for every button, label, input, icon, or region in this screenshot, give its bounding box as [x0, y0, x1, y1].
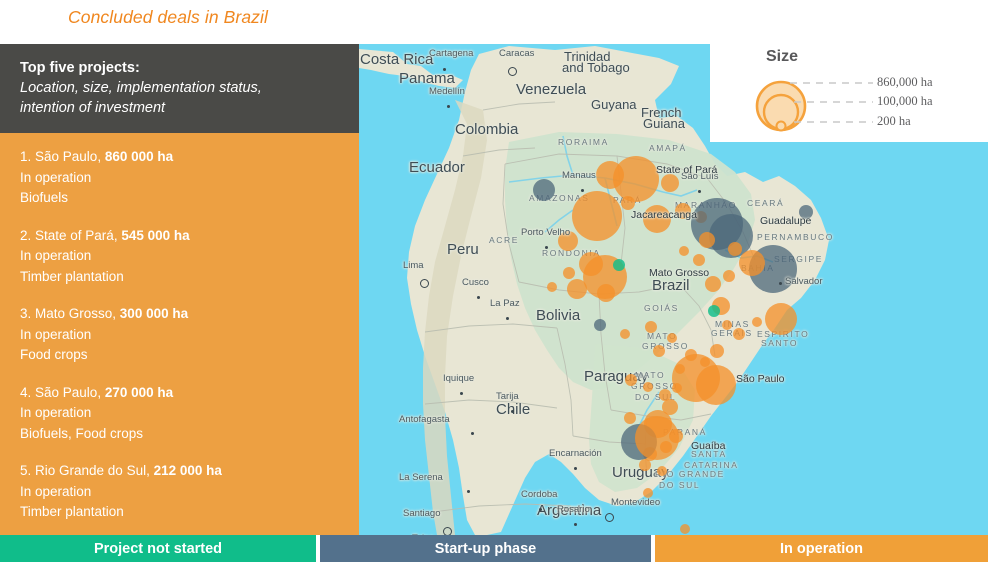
city-dot: [698, 190, 701, 193]
project-rank: 2.: [20, 228, 35, 243]
project-title-line: 2. State of Pará, 545 000 ha: [20, 226, 339, 247]
deal-bubble[interactable]: [680, 524, 690, 534]
project-entry: 1. São Paulo, 860 000 ha In operation Bi…: [20, 147, 339, 209]
status-segment-label: Project not started: [94, 541, 222, 557]
project-size: 545 000 ha: [121, 228, 189, 243]
capital-dot: [605, 513, 614, 522]
deal-bubble[interactable]: [620, 329, 630, 339]
deal-bubble[interactable]: [572, 191, 622, 241]
size-legend-label: 860,000 ha: [877, 75, 933, 90]
city-dot: [545, 246, 548, 249]
project-status: In operation: [20, 246, 339, 267]
project-status: In operation: [20, 168, 339, 189]
deal-bubble[interactable]: [699, 232, 715, 248]
deal-bubble[interactable]: [679, 246, 689, 256]
city-dot: [471, 432, 474, 435]
city-dot: [539, 508, 542, 511]
capital-dot: [420, 279, 429, 288]
city-dot: [574, 523, 577, 526]
deal-bubble[interactable]: [653, 345, 665, 357]
city-dot: [581, 189, 584, 192]
deal-bubble[interactable]: [563, 267, 575, 279]
size-legend-label: 200 ha: [877, 114, 911, 129]
city-dot: [506, 317, 509, 320]
project-size: 860 000 ha: [105, 149, 173, 164]
project-location: State of Pará,: [35, 228, 121, 243]
status-segment-not-started[interactable]: Project not started: [0, 535, 316, 562]
project-entry: 4. São Paulo, 270 000 ha In operation Bi…: [20, 383, 339, 445]
deal-bubble[interactable]: [696, 365, 736, 405]
infographic-root: Concluded deals in Brazil: [0, 0, 988, 562]
project-rank: 1.: [20, 149, 35, 164]
project-intention: Timber plantation: [20, 502, 339, 523]
project-rank: 5.: [20, 463, 35, 478]
deal-bubble[interactable]: [739, 250, 765, 276]
size-legend-title: Size: [766, 48, 798, 66]
city-dot: [447, 105, 450, 108]
project-rank: 4.: [20, 385, 35, 400]
status-segment-label: In operation: [780, 541, 863, 557]
deal-bubble[interactable]: [594, 319, 606, 331]
project-intention: Timber plantation: [20, 267, 339, 288]
project-location: Mato Grosso,: [35, 306, 120, 321]
deal-bubble[interactable]: [708, 305, 720, 317]
project-entry: 5. Rio Grande do Sul, 212 000 ha In oper…: [20, 461, 339, 523]
deal-bubble[interactable]: [661, 174, 679, 192]
deal-bubble[interactable]: [625, 374, 637, 386]
deal-bubble[interactable]: [639, 459, 651, 471]
deal-bubble[interactable]: [710, 344, 724, 358]
panel-header: Top five projects: Location, size, imple…: [0, 44, 359, 133]
project-entry: 3. Mato Grosso, 300 000 ha In operation …: [20, 304, 339, 366]
status-legend-bar: Project not started Start-up phase In op…: [0, 535, 988, 562]
size-legend-card: Size 860,000 ha 100,000 ha 200 ha: [710, 38, 988, 142]
project-size: 300 000 ha: [120, 306, 188, 321]
project-status: In operation: [20, 325, 339, 346]
status-segment-startup[interactable]: Start-up phase: [320, 535, 651, 562]
deal-bubble[interactable]: [660, 441, 672, 453]
project-location: Rio Grande do Sul,: [35, 463, 154, 478]
project-intention: Biofuels, Food crops: [20, 424, 339, 445]
deal-bubble[interactable]: [722, 320, 732, 330]
project-intention: Food crops: [20, 345, 339, 366]
deal-bubble[interactable]: [613, 259, 625, 271]
capital-dot: [508, 67, 517, 76]
deal-bubble[interactable]: [765, 303, 797, 335]
top-projects-panel: Top five projects: Location, size, imple…: [0, 44, 359, 535]
project-status: In operation: [20, 482, 339, 503]
deal-bubble[interactable]: [624, 412, 636, 424]
deal-bubble[interactable]: [728, 242, 742, 256]
project-status: In operation: [20, 403, 339, 424]
city-dot: [574, 467, 577, 470]
size-legend-graphic: [710, 38, 988, 142]
project-entry: 2. State of Pará, 545 000 ha In operatio…: [20, 226, 339, 288]
deal-bubble[interactable]: [645, 321, 657, 333]
city-dot: [511, 410, 514, 413]
project-title-line: 5. Rio Grande do Sul, 212 000 ha: [20, 461, 339, 482]
deal-bubble[interactable]: [799, 205, 813, 219]
size-legend-label: 100,000 ha: [877, 94, 933, 109]
city-dot: [467, 490, 470, 493]
page-title: Concluded deals in Brazil: [68, 2, 488, 32]
deal-bubble[interactable]: [579, 252, 603, 276]
deal-bubble[interactable]: [723, 270, 735, 282]
deal-bubble[interactable]: [547, 282, 557, 292]
city-dot: [779, 282, 782, 285]
deal-bubble[interactable]: [643, 205, 671, 233]
deal-bubble[interactable]: [533, 179, 555, 201]
panel-subheading-line2: intention of investment: [20, 98, 339, 118]
deal-bubble[interactable]: [675, 203, 691, 219]
status-segment-label: Start-up phase: [435, 541, 537, 557]
capital-dot: [443, 527, 452, 535]
deal-bubble[interactable]: [667, 333, 677, 343]
deal-bubble[interactable]: [643, 488, 653, 498]
panel-body: 1. São Paulo, 860 000 ha In operation Bi…: [0, 133, 359, 535]
status-segment-in-operation[interactable]: In operation: [655, 535, 988, 562]
project-location: São Paulo,: [35, 385, 105, 400]
panel-subheading-line1: Location, size, implementation status,: [20, 78, 339, 98]
project-intention: Biofuels: [20, 188, 339, 209]
deal-bubble[interactable]: [657, 466, 667, 476]
deal-bubble[interactable]: [643, 382, 653, 392]
panel-heading: Top five projects:: [20, 58, 339, 78]
project-size: 270 000 ha: [105, 385, 173, 400]
deal-bubble[interactable]: [693, 254, 705, 266]
city-dot: [460, 392, 463, 395]
deal-bubble[interactable]: [567, 279, 587, 299]
deal-bubble[interactable]: [669, 429, 683, 443]
deal-bubble[interactable]: [621, 196, 635, 210]
city-dot: [477, 296, 480, 299]
project-title-line: 3. Mato Grosso, 300 000 ha: [20, 304, 339, 325]
project-location: São Paulo,: [35, 149, 105, 164]
deal-bubble[interactable]: [596, 161, 624, 189]
deal-bubble[interactable]: [558, 231, 578, 251]
project-title-line: 4. São Paulo, 270 000 ha: [20, 383, 339, 404]
deal-bubble[interactable]: [705, 276, 721, 292]
deal-bubble[interactable]: [752, 317, 762, 327]
project-title-line: 1. São Paulo, 860 000 ha: [20, 147, 339, 168]
city-dot: [443, 68, 446, 71]
project-rank: 3.: [20, 306, 35, 321]
project-size: 212 000 ha: [154, 463, 222, 478]
deal-bubble[interactable]: [733, 328, 745, 340]
